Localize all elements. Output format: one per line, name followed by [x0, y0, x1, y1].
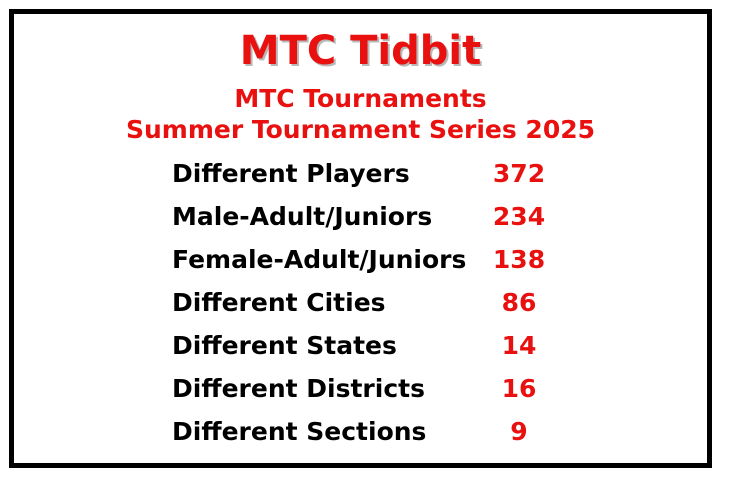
subtitle-line-2: Summer Tournament Series 2025 — [14, 115, 707, 146]
subtitle-block: MTC Tournaments Summer Tournament Series… — [14, 84, 707, 145]
stat-label: Different Districts — [14, 374, 444, 403]
subtitle-line-1: MTC Tournaments — [14, 84, 707, 115]
stat-row: Different Sections 9 — [14, 417, 707, 460]
stat-row: Different Cities 86 — [14, 288, 707, 331]
stats-list: Different Players 372 Male-Adult/Juniors… — [14, 159, 707, 460]
stat-row: Different Districts 16 — [14, 374, 707, 417]
stat-label: Female-Adult/Juniors — [14, 245, 444, 274]
stat-label: Different Players — [14, 159, 444, 188]
stat-value: 234 — [444, 202, 594, 231]
stat-row: Male-Adult/Juniors 234 — [14, 202, 707, 245]
stat-label: Different Sections — [14, 417, 444, 446]
stat-label: Different Cities — [14, 288, 444, 317]
stat-label: Male-Adult/Juniors — [14, 202, 444, 231]
stat-value: 14 — [444, 331, 594, 360]
stat-value: 9 — [444, 417, 594, 446]
stat-row: Different Players 372 — [14, 159, 707, 202]
page-title: MTC Tidbit — [14, 28, 707, 74]
stat-value: 138 — [444, 245, 594, 274]
stat-value: 372 — [444, 159, 594, 188]
card-inner: MTC Tidbit MTC Tournaments Summer Tourna… — [14, 28, 707, 477]
stat-value: 86 — [444, 288, 594, 317]
stat-value: 16 — [444, 374, 594, 403]
stat-label: Different States — [14, 331, 444, 360]
tidbit-card: MTC Tidbit MTC Tournaments Summer Tourna… — [9, 9, 712, 468]
stat-row: Female-Adult/Juniors 138 — [14, 245, 707, 288]
stat-row: Different States 14 — [14, 331, 707, 374]
